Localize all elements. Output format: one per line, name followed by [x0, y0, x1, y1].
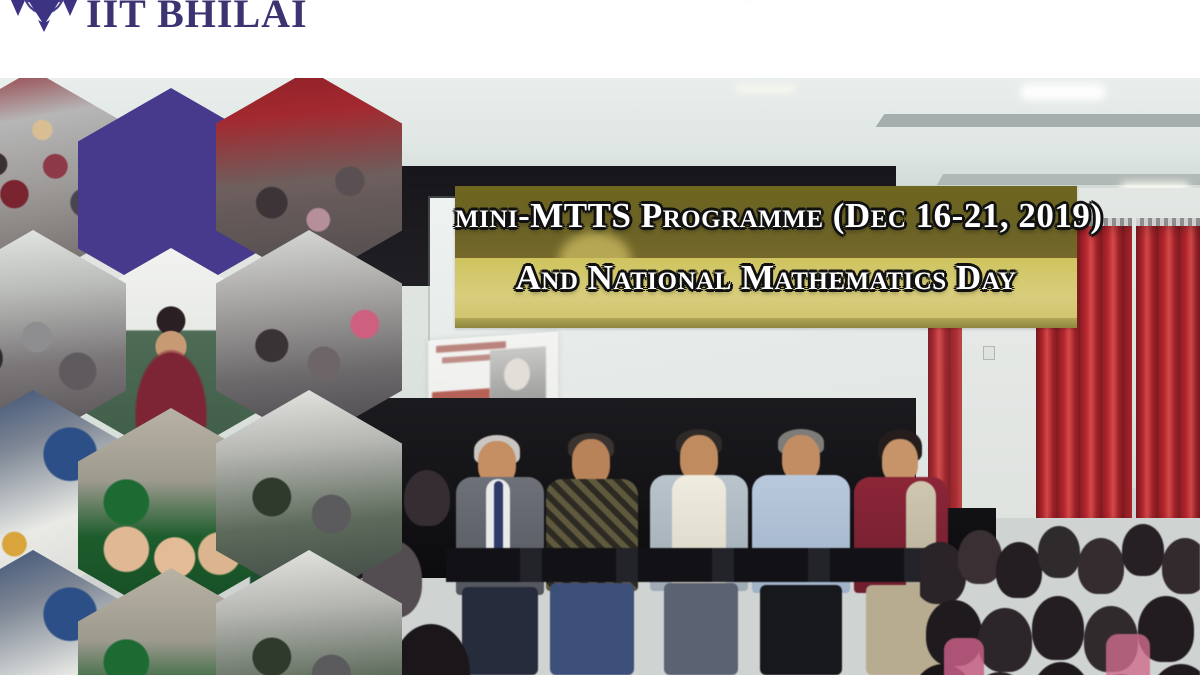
hexagon-photo-collage — [0, 78, 320, 675]
banner-edge — [455, 318, 1077, 328]
site-header: IIT BHILAI mini-MTTS Programme and Natio… — [0, 0, 1200, 78]
institute-name: IIT BHILAI — [86, 0, 308, 36]
curtain-rod — [1136, 218, 1200, 226]
audience-right — [920, 508, 1200, 675]
red-curtain — [1136, 218, 1200, 518]
globe-emblem-icon — [8, 0, 80, 36]
header-faint-text: mini-MTTS Programme and National Mathema… — [660, 0, 1180, 6]
ceiling-light-icon — [1020, 84, 1106, 100]
ceiling-beam — [876, 114, 1200, 127]
wall-switch — [983, 346, 995, 360]
event-banner-image: IIT BHILAI mini-MTTS Programme and Natio… — [0, 0, 1200, 675]
ceiling-light-icon — [735, 84, 795, 94]
title-banner: mini-MTTS Programme (Dec 16-21, 2019) An… — [455, 186, 1077, 328]
event-photograph: mini-MTTS Programme (Dec 16-21, 2019) An… — [0, 78, 1200, 675]
banner-title-line-1: mini-MTTS Programme (Dec 16-21, 2019) — [455, 196, 1077, 236]
chair-row — [446, 548, 956, 582]
brand-lockup[interactable]: IIT BHILAI — [8, 0, 308, 36]
banner-title-line-2: And National Mathematics Day — [455, 258, 1077, 298]
